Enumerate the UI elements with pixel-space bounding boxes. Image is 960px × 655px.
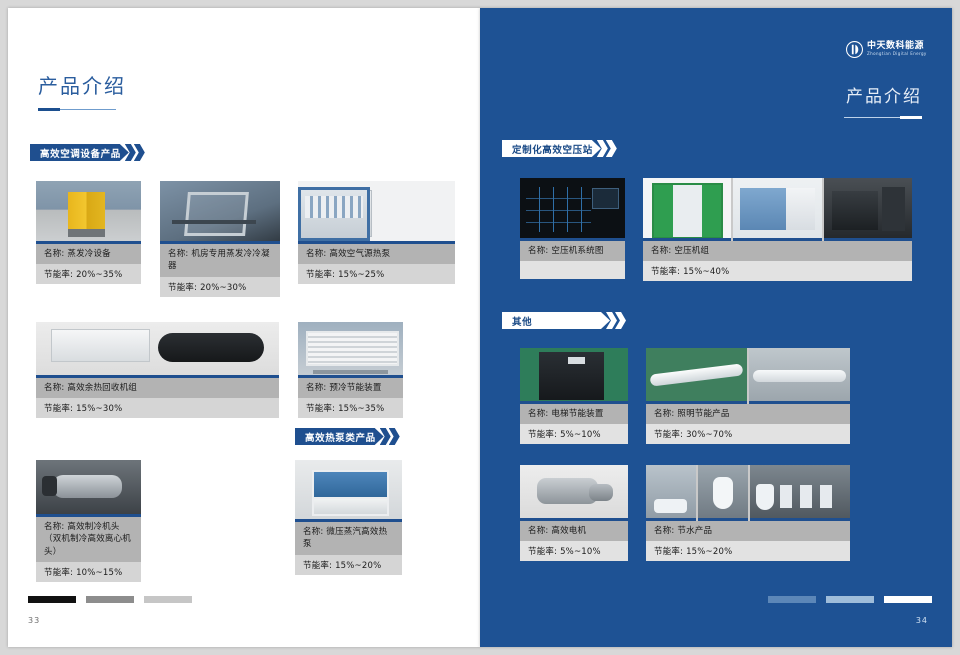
card-name-main: 名称: 电梯节能装置 — [528, 409, 604, 419]
card-name: 名称: 微压蒸汽高效热泵 — [295, 522, 402, 555]
chevron-right-icon — [597, 140, 619, 157]
chevron-right-icon — [125, 144, 147, 161]
card-photo-strip — [295, 460, 402, 522]
left-footer-bars — [28, 596, 192, 603]
product-photo — [643, 178, 731, 241]
right-page-title: 产品介绍 — [846, 82, 922, 107]
product-photo — [646, 348, 747, 404]
card-name-sub: （双机制冷高效离心机头） — [44, 533, 133, 558]
card-photo-strip — [36, 322, 279, 378]
card-rate: 节能率: 30%~70% — [646, 424, 850, 444]
card-name: 名称: 高效电机 — [520, 521, 628, 541]
card-photo-strip — [298, 181, 455, 244]
product-photo — [749, 348, 850, 404]
section-header-heatpump-label: 高效热泵类产品 — [295, 428, 384, 445]
product-photo — [646, 465, 696, 521]
card-name-main: 名称: 高效电机 — [528, 526, 586, 536]
logo-mark-icon — [846, 41, 863, 58]
product-photo — [298, 181, 455, 244]
right-page-number: 34 — [916, 616, 928, 625]
section-header-heatpump[interactable]: 高效热泵类产品 — [295, 428, 402, 445]
product-card[interactable]: 名称: 微压蒸汽高效热泵 节能率: 15%~20% — [295, 460, 402, 575]
card-name: 名称: 空压机组 — [643, 241, 912, 261]
underline-thick-segment — [38, 108, 60, 111]
card-photo-strip — [36, 460, 141, 517]
footer-bar-2 — [86, 596, 134, 603]
card-rate: 节能率: 15%~30% — [36, 398, 279, 418]
left-page-title: 产品介绍 — [38, 70, 126, 99]
right-footer-bars — [768, 596, 932, 603]
card-name-main: 名称: 预冷节能装置 — [306, 383, 382, 393]
footer-bar-3 — [144, 596, 192, 603]
card-name-main: 名称: 机房专用蒸发冷冷凝器 — [168, 249, 270, 271]
card-rate: 节能率: 5%~10% — [520, 424, 628, 444]
left-page-number: 33 — [28, 616, 40, 625]
card-name: 名称: 蒸发冷设备 — [36, 244, 141, 264]
product-photo — [36, 460, 141, 517]
chevron-right-icon — [606, 312, 628, 329]
card-name: 名称: 电梯节能装置 — [520, 404, 628, 424]
product-card[interactable]: 名称: 机房专用蒸发冷冷凝器 节能率: 20%~30% — [160, 181, 280, 297]
card-rate: 节能率: 15%~35% — [298, 398, 403, 418]
logo-text: 中天数科能源 Zhongtian Digital Energy — [867, 42, 924, 57]
product-photo — [295, 460, 402, 522]
card-name-main: 名称: 高效空气源热泵 — [306, 249, 390, 259]
card-name-main: 名称: 节水产品 — [654, 526, 712, 536]
card-name-main: 名称: 高效余热回收机组 — [44, 383, 137, 393]
card-name-main: 名称: 微压蒸汽高效热泵 — [303, 527, 387, 549]
product-card[interactable]: 名称: 高效制冷机头 （双机制冷高效离心机头） 节能率: 10%~15% — [36, 460, 141, 582]
card-photo-strip — [646, 348, 850, 404]
product-photo — [36, 322, 279, 378]
card-name-main: 名称: 高效制冷机头 — [44, 522, 120, 532]
product-photo — [733, 178, 821, 241]
product-photo — [520, 348, 628, 404]
product-card[interactable]: 名称: 空压机系统图 — [520, 178, 625, 279]
card-name-main: 名称: 空压机系统图 — [528, 246, 604, 256]
product-photo — [520, 178, 625, 241]
card-rate: 节能率: 10%~15% — [36, 562, 141, 582]
card-rate: 节能率: 15%~20% — [295, 555, 402, 575]
product-photo — [750, 465, 850, 521]
product-photo — [698, 465, 748, 521]
footer-bar-1 — [28, 596, 76, 603]
card-photo-strip — [36, 181, 141, 244]
card-photo-strip — [520, 178, 625, 241]
card-photo-strip — [520, 465, 628, 521]
product-photo — [36, 181, 141, 244]
underline-thin-segment — [60, 109, 116, 110]
card-name: 名称: 高效制冷机头 （双机制冷高效离心机头） — [36, 517, 141, 562]
card-photo-strip — [520, 348, 628, 404]
product-card[interactable]: 名称: 照明节能产品 节能率: 30%~70% — [646, 348, 850, 444]
card-photo-strip — [160, 181, 280, 244]
product-card[interactable]: 名称: 高效空气源热泵 节能率: 15%~25% — [298, 181, 455, 284]
card-name-main: 名称: 空压机组 — [651, 246, 709, 256]
card-rate: 节能率: 20%~30% — [160, 277, 280, 297]
section-header-hvac[interactable]: 高效空调设备产品 — [30, 144, 147, 161]
card-rate: 节能率: 5%~10% — [520, 541, 628, 561]
card-rate: 节能率: 15%~40% — [643, 261, 912, 281]
card-rate: 节能率: 15%~20% — [646, 541, 850, 561]
right-page: 中天数科能源 Zhongtian Digital Energy 产品介绍 定制化… — [480, 8, 952, 647]
card-photo-strip — [298, 322, 403, 378]
left-page: 产品介绍 高效空调设备产品 名称: 蒸发冷设备 节能率: 20%~35% — [8, 8, 480, 647]
company-logo: 中天数科能源 Zhongtian Digital Energy — [846, 41, 924, 58]
page-spread: 产品介绍 高效空调设备产品 名称: 蒸发冷设备 节能率: 20%~35% — [0, 0, 960, 655]
card-name: 名称: 照明节能产品 — [646, 404, 850, 424]
card-name: 名称: 空压机系统图 — [520, 241, 625, 261]
logo-text-en: Zhongtian Digital Energy — [867, 53, 931, 57]
card-name: 名称: 预冷节能装置 — [298, 378, 403, 398]
section-header-air-compressor[interactable]: 定制化高效空压站 — [502, 140, 619, 157]
chevron-right-icon — [380, 428, 402, 445]
product-photo — [520, 465, 628, 521]
product-card[interactable]: 名称: 蒸发冷设备 节能率: 20%~35% — [36, 181, 141, 284]
card-photo-strip — [646, 465, 850, 521]
card-rate — [520, 261, 625, 279]
footer-bar-3 — [884, 596, 932, 603]
product-photo — [824, 178, 912, 241]
section-header-other-label: 其他 — [502, 312, 610, 329]
card-rate: 节能率: 15%~25% — [298, 264, 455, 284]
section-header-hvac-label: 高效空调设备产品 — [30, 144, 129, 161]
right-title-underline — [844, 116, 922, 119]
product-card[interactable]: 名称: 空压机组 节能率: 15%~40% — [643, 178, 912, 281]
card-name-main: 名称: 蒸发冷设备 — [44, 249, 111, 259]
card-photo-strip — [643, 178, 912, 241]
product-card[interactable]: 名称: 高效电机 节能率: 5%~10% — [520, 465, 628, 561]
card-rate: 节能率: 20%~35% — [36, 264, 141, 284]
logo-text-cn: 中天数科能源 — [867, 42, 924, 51]
left-title-underline — [38, 108, 116, 111]
section-header-other[interactable]: 其他 — [502, 312, 628, 329]
product-card[interactable]: 名称: 高效余热回收机组 节能率: 15%~30% — [36, 322, 279, 418]
card-name-main: 名称: 照明节能产品 — [654, 409, 730, 419]
card-name: 名称: 高效空气源热泵 — [298, 244, 455, 264]
card-name: 名称: 高效余热回收机组 — [36, 378, 279, 398]
underline-thick-segment — [900, 116, 922, 119]
footer-bar-2 — [826, 596, 874, 603]
product-photo — [298, 322, 403, 378]
footer-bar-1 — [768, 596, 816, 603]
underline-thin-segment — [844, 117, 900, 118]
card-name: 名称: 机房专用蒸发冷冷凝器 — [160, 244, 280, 277]
product-card[interactable]: 名称: 预冷节能装置 节能率: 15%~35% — [298, 322, 403, 418]
card-name: 名称: 节水产品 — [646, 521, 850, 541]
product-card[interactable]: 名称: 电梯节能装置 节能率: 5%~10% — [520, 348, 628, 444]
product-card[interactable]: 名称: 节水产品 节能率: 15%~20% — [646, 465, 850, 561]
section-header-air-compressor-label: 定制化高效空压站 — [502, 140, 601, 157]
product-photo — [160, 181, 280, 244]
